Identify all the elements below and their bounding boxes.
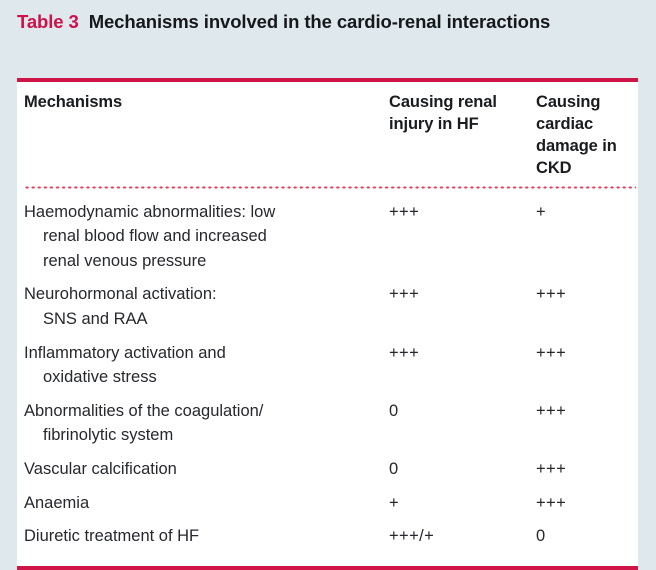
row-value-cardiac: +++ [536, 341, 636, 366]
row-mechanism-label: Inflammatory activation andoxidative str… [24, 341, 389, 390]
table-row: Vascular calcification 0 +++ [24, 457, 638, 482]
row-mechanism-label: Abnormalities of the coagulation/fibrino… [24, 399, 389, 448]
table-row: Haemodynamic abnormalities: lowrenal blo… [24, 200, 638, 274]
table-row: Diuretic treatment of HF +++/+ 0 [24, 524, 638, 549]
table-row: Anaemia + +++ [24, 491, 638, 516]
table-figure: Table 3Mechanisms involved in the cardio… [0, 0, 656, 530]
row-value-renal: +++/+ [389, 524, 536, 549]
table-caption: Table 3Mechanisms involved in the cardio… [17, 8, 641, 36]
row-line-1: Anaemia [24, 494, 89, 512]
row-value-renal: +++ [389, 341, 536, 366]
row-value-cardiac: +++ [536, 457, 636, 482]
table-body: Haemodynamic abnormalities: lowrenal blo… [24, 189, 638, 549]
row-line-2: SNS and RAA [24, 307, 389, 332]
table-header-row: Mechanisms Causing renal injury in HF Ca… [24, 82, 638, 180]
table-row: Neurohormonal activation:SNS and RAA +++… [24, 282, 638, 331]
row-line-2: oxidative stress [24, 365, 389, 390]
row-value-renal: +++ [389, 200, 536, 225]
row-mechanism-label: Haemodynamic abnormalities: lowrenal blo… [24, 200, 389, 274]
row-value-cardiac: +++ [536, 282, 636, 307]
row-value-cardiac: +++ [536, 491, 636, 516]
row-line-1: Vascular calcification [24, 460, 177, 478]
row-value-renal: 0 [389, 457, 536, 482]
table-bottom-rule [17, 566, 638, 570]
row-mechanism-label: Anaemia [24, 491, 389, 516]
row-mechanism-label: Vascular calcification [24, 457, 389, 482]
column-header-cardiac-damage: Causing cardiac damage in CKD [536, 92, 636, 180]
row-line-2: fibrinolytic system [24, 423, 389, 448]
row-value-renal: + [389, 491, 536, 516]
table-row: Abnormalities of the coagulation/fibrino… [24, 399, 638, 448]
row-line-1: Abnormalities of the coagulation/ [24, 402, 263, 420]
row-mechanism-label: Diuretic treatment of HF [24, 524, 389, 549]
row-line-1: Neurohormonal activation: [24, 285, 217, 303]
column-header-renal-injury: Causing renal injury in HF [389, 92, 536, 180]
row-value-cardiac: + [536, 200, 636, 225]
row-line-2: renal blood flow and increased [24, 224, 389, 249]
row-line-3: renal venous pressure [24, 249, 389, 274]
row-value-renal: +++ [389, 282, 536, 307]
column-header-mechanisms: Mechanisms [24, 92, 389, 180]
table-caption-text: Mechanisms involved in the cardio-renal … [89, 11, 551, 32]
table-row: Inflammatory activation andoxidative str… [24, 341, 638, 390]
row-mechanism-label: Neurohormonal activation:SNS and RAA [24, 282, 389, 331]
table-number-label: Table 3 [17, 11, 79, 32]
row-line-1: Haemodynamic abnormalities: low [24, 203, 275, 221]
row-value-renal: 0 [389, 399, 536, 424]
table-container: Mechanisms Causing renal injury in HF Ca… [17, 78, 638, 570]
row-value-cardiac: +++ [536, 399, 636, 424]
row-line-1: Inflammatory activation and [24, 344, 226, 362]
row-value-cardiac: 0 [536, 524, 636, 549]
